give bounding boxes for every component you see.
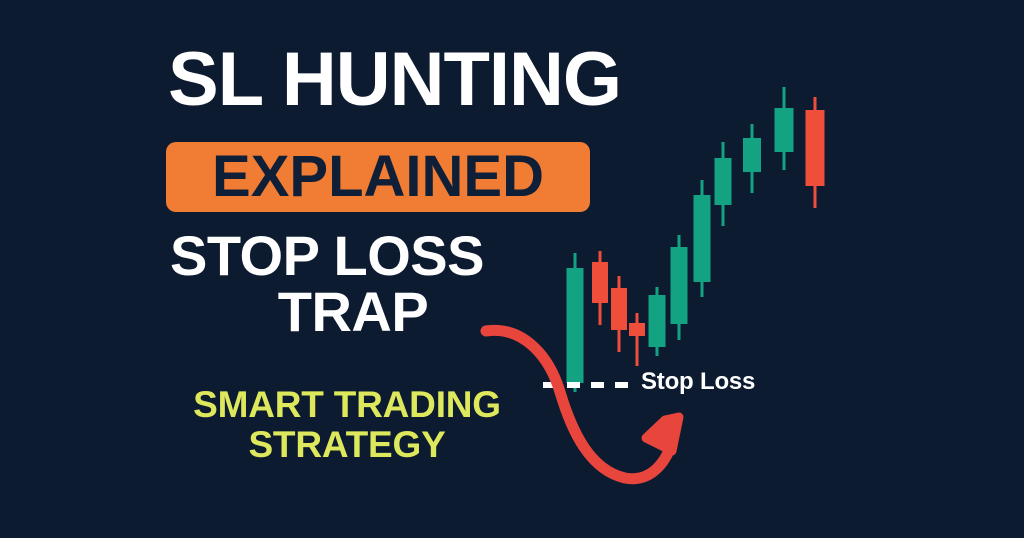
candle-series bbox=[567, 87, 825, 392]
candle-10-bullish bbox=[775, 87, 794, 170]
candle-body bbox=[715, 158, 732, 205]
page-title: SL HUNTING bbox=[168, 44, 688, 116]
candle-body bbox=[567, 268, 584, 383]
candle-body bbox=[743, 138, 761, 172]
candle-5-bullish bbox=[649, 287, 666, 356]
explained-badge-label: EXPLAINED bbox=[212, 148, 544, 206]
subheading-line-1: STOP LOSS bbox=[170, 228, 530, 284]
candle-body bbox=[611, 288, 627, 330]
subheading-line-2: TRAP bbox=[170, 284, 530, 340]
candle-body bbox=[649, 295, 666, 347]
candle-body bbox=[592, 262, 608, 303]
candle-6-bullish bbox=[671, 235, 688, 340]
candle-4-bearish bbox=[629, 313, 645, 366]
poster-canvas: SL HUNTING EXPLAINED STOP LOSS TRAP SMAR… bbox=[0, 0, 1024, 538]
candle-2-bearish bbox=[592, 251, 608, 325]
candle-7-bullish bbox=[694, 180, 711, 297]
candle-body bbox=[694, 195, 711, 282]
stop-loss-label: Stop Loss bbox=[641, 368, 755, 396]
candle-8-bullish bbox=[715, 142, 732, 226]
candle-11-bearish bbox=[806, 97, 825, 208]
tagline: SMART TRADING STRATEGY bbox=[152, 385, 542, 465]
candle-3-bearish bbox=[611, 276, 627, 352]
subheading: STOP LOSS TRAP bbox=[170, 228, 530, 340]
explained-badge: EXPLAINED bbox=[166, 142, 590, 212]
headline-line-1: SL HUNTING bbox=[168, 37, 621, 122]
candle-body bbox=[775, 108, 794, 152]
tagline-line-2: STRATEGY bbox=[152, 425, 542, 465]
candle-1-bullish bbox=[567, 253, 584, 392]
candle-body bbox=[671, 247, 688, 324]
candle-9-bullish bbox=[743, 124, 761, 193]
tagline-line-1: SMART TRADING bbox=[152, 385, 542, 425]
candle-body bbox=[806, 110, 825, 186]
candle-body bbox=[629, 323, 645, 336]
